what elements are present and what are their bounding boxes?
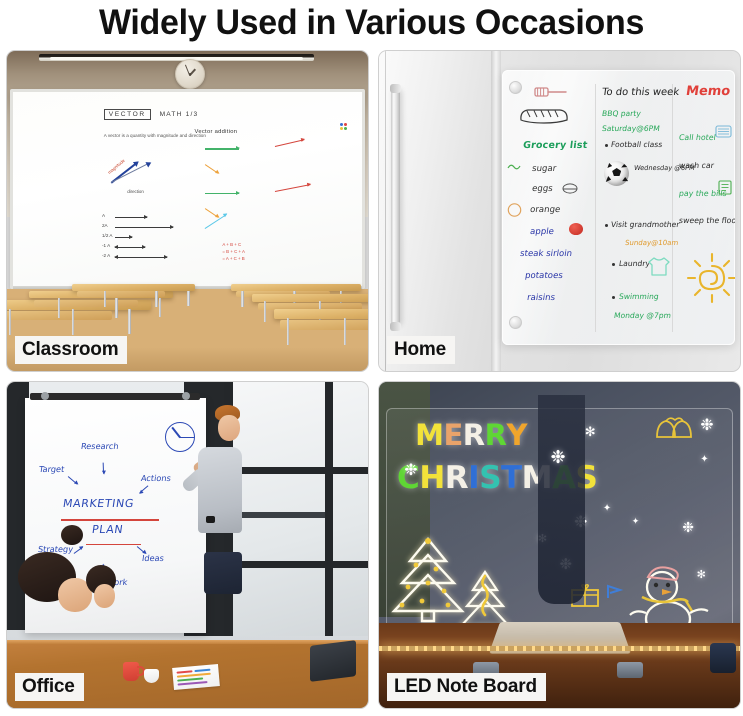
- panel-grid: VECTOR MATH 1/3 A vector is a quantity w…: [6, 50, 737, 712]
- wristwatch-icon: [206, 516, 215, 523]
- board-stand-shadow: [538, 395, 585, 604]
- scalar-multiples-list: A 2A 1/2 A -1 A: [102, 212, 212, 262]
- magnet-screw-icon: [509, 316, 522, 329]
- letter: R: [485, 418, 507, 452]
- led-light-strip: [379, 646, 740, 651]
- bread-icon: [518, 106, 570, 130]
- letter: I: [468, 460, 479, 496]
- window-mullion: [325, 382, 333, 636]
- todo-item-text: BBQ party: [601, 109, 641, 118]
- grocery-item: steak sirloin: [520, 249, 573, 259]
- snowflake-icon: ❉: [700, 415, 713, 435]
- fridge-handle-icon: [391, 89, 400, 326]
- acrylic-note-board: Grocery list sugar eggs orange apple ste…: [502, 70, 735, 345]
- panel-office[interactable]: Research Target Actions MARKETING PLAN S…: [6, 381, 369, 709]
- egg-doodle-icon: [562, 183, 578, 194]
- snowflake-icon: ✦: [632, 516, 640, 527]
- letter: Y: [506, 418, 527, 452]
- scarf-flag-icon: [606, 584, 624, 605]
- mindmap-node: Research: [80, 441, 119, 451]
- desk-object: [710, 643, 736, 673]
- grocery-item: eggs: [531, 184, 553, 194]
- board-foot: [617, 662, 643, 678]
- mindmap-center-line2: PLAN: [91, 523, 124, 536]
- scalar-row: 2A: [102, 222, 212, 232]
- whisk-icon: [534, 84, 568, 107]
- bells-icon: [653, 415, 697, 446]
- desk: [72, 284, 195, 307]
- equation-line: = A + C + B: [222, 255, 245, 262]
- vector-addition-section: Vector addition: [194, 129, 355, 135]
- scalar-label: -2 A: [102, 253, 110, 258]
- label-direction: direction: [127, 189, 144, 194]
- column-divider: [672, 84, 673, 332]
- flipchart-clamp: [30, 393, 200, 400]
- presenter-pants: [204, 552, 242, 594]
- scalar-row: A: [102, 212, 212, 222]
- snowflake-icon: ❉: [682, 519, 694, 536]
- grocery-item: sugar: [531, 164, 557, 174]
- presenter-shirt: [198, 447, 242, 533]
- scalar-row: -2 A: [102, 252, 212, 262]
- memo-item: Call hotel: [678, 133, 716, 142]
- soccer-ball-icon: [604, 161, 629, 186]
- led-scene: MERRY CHRISTMAS ✻ ❉ ❉ ✦ ❉ ✦ ✻ ❉ ❉ ✦ ✻: [379, 382, 740, 708]
- scalar-row: 1/2 A: [102, 232, 212, 242]
- snowflake-icon: ❉: [404, 460, 417, 480]
- office-scene: Research Target Actions MARKETING PLAN S…: [7, 382, 368, 708]
- snowflake-icon: ✦: [700, 454, 708, 465]
- memo-item: sweep the floor: [678, 216, 735, 225]
- railing: [234, 512, 324, 517]
- letter: T: [501, 460, 522, 496]
- panel-caption-led-note-board: LED Note Board: [387, 673, 546, 701]
- column-divider: [595, 84, 596, 332]
- letter: M: [415, 418, 443, 452]
- letter: S: [479, 460, 501, 496]
- vector-addition-title: Vector addition: [194, 129, 355, 135]
- grocery-item: orange: [529, 205, 561, 215]
- presenter-head: [218, 415, 240, 441]
- wall-clock-icon: [175, 59, 205, 89]
- letter: H: [419, 460, 444, 496]
- snowflake-icon: ❉: [550, 447, 565, 468]
- fridge-edge: [491, 51, 501, 371]
- todo-item-detail: Saturday@6PM: [601, 124, 660, 133]
- home-scene: Grocery list sugar eggs orange apple ste…: [379, 51, 740, 371]
- ceiling-light-icon: [39, 54, 313, 61]
- panel-led-note-board[interactable]: MERRY CHRISTMAS ✻ ❉ ❉ ✦ ❉ ✦ ✻ ❉ ❉ ✦ ✻: [378, 381, 741, 709]
- window-mullion: [224, 467, 368, 474]
- phone-icon: [715, 125, 732, 138]
- memo-title: Memo: [685, 84, 731, 99]
- panel-classroom[interactable]: VECTOR MATH 1/3 A vector is a quantity w…: [6, 50, 369, 372]
- whiteboard-title-boxed: VECTOR: [104, 109, 151, 120]
- mindmap-center-line1: MARKETING: [62, 497, 135, 510]
- todo-item-text: Football class: [611, 140, 664, 149]
- panel-caption-home: Home: [387, 336, 455, 364]
- todo-item-detail: Monday @7pm: [613, 311, 671, 320]
- mindmap-node: Target: [39, 464, 66, 474]
- grocery-item: potatoes: [524, 271, 563, 281]
- panel-caption-office: Office: [15, 673, 84, 701]
- page-title: Widely Used in Various Occasions: [11, 0, 732, 46]
- pie-chart-sketch: [165, 422, 195, 452]
- refrigerator-door: [379, 51, 498, 371]
- whiteboard-title-rest: MATH 1/3: [160, 111, 199, 118]
- desk: [274, 309, 368, 345]
- snowflake-icon: ✻: [585, 424, 596, 440]
- tshirt-icon: [646, 255, 672, 277]
- snowflake-icon: ✦: [603, 503, 611, 514]
- todo-title: To do this week: [601, 87, 679, 98]
- orange-doodle-icon: [506, 202, 523, 217]
- scalar-label: 2A: [102, 223, 108, 228]
- todo-item-text: Visit grandmother: [611, 220, 681, 229]
- scalar-label: A: [102, 213, 105, 218]
- red-mug: [123, 662, 139, 681]
- colleague-head: [94, 584, 115, 608]
- sugar-doodle-icon: [506, 161, 522, 174]
- laptop: [310, 640, 356, 682]
- scalar-row: -1 A: [102, 242, 212, 252]
- page-root: Widely Used in Various Occasions VECTOR …: [0, 0, 743, 716]
- headline-line-1: MERRY: [415, 418, 527, 452]
- vector-equations: A + B + C = B + C + A = A + C + B: [222, 241, 245, 262]
- letter: E: [443, 418, 462, 452]
- apple-icon: [569, 223, 583, 235]
- panel-caption-classroom: Classroom: [15, 336, 127, 364]
- magnet-icons: [340, 123, 348, 131]
- grocery-item: raisins: [527, 293, 556, 303]
- mindmap-node: Actions: [140, 473, 171, 483]
- todo-item-detail: Sunday@10am: [625, 239, 679, 247]
- equation-line: A + B + C: [222, 241, 245, 248]
- letter: R: [463, 418, 485, 452]
- magnet-screw-icon: [509, 81, 522, 94]
- memo-item: wash car: [678, 161, 714, 170]
- classroom-whiteboard: VECTOR MATH 1/3 A vector is a quantity w…: [10, 89, 365, 289]
- vector-diagram: magnitude direction: [107, 156, 173, 198]
- grocery-item: apple: [529, 227, 554, 237]
- panel-home[interactable]: Grocery list sugar eggs orange apple ste…: [378, 50, 741, 372]
- scalar-label: 1/2 A: [102, 233, 112, 238]
- document-icon: [718, 180, 732, 195]
- printed-chart: [172, 664, 220, 690]
- letter: R: [445, 460, 468, 496]
- sun-icon: [686, 252, 735, 304]
- window-mullion: [224, 561, 368, 568]
- office-window: [224, 382, 368, 636]
- scalar-label: -1 A: [102, 243, 110, 248]
- todo-item-text: Swimming: [619, 292, 660, 301]
- classroom-scene: VECTOR MATH 1/3 A vector is a quantity w…: [7, 51, 368, 371]
- equation-line: = B + C + A: [222, 248, 245, 255]
- grocery-list-title: Grocery list: [522, 140, 588, 151]
